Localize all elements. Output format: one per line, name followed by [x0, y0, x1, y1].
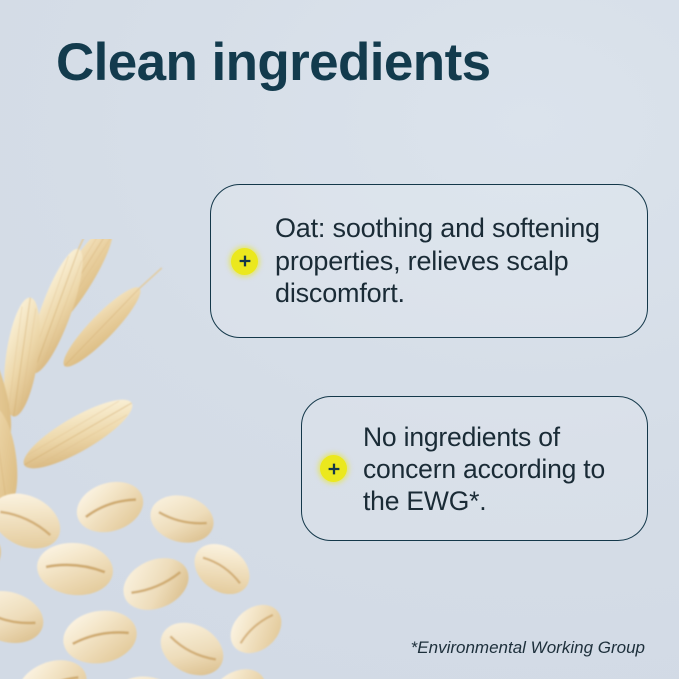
background-wash: [0, 0, 679, 679]
ingredient-card-oat: Oat: soothing and softening properties, …: [210, 184, 648, 338]
ingredient-card-ewg-text: No ingredients of concern according to t…: [363, 421, 635, 517]
footnote-disclaimer: *Environmental Working Group: [411, 637, 645, 659]
plus-icon: [231, 248, 258, 275]
ingredient-card-ewg: No ingredients of concern according to t…: [301, 396, 648, 541]
plus-icon: [320, 455, 347, 482]
product-ingredient-infographic: Clean ingredients Oat: soothing and soft…: [0, 0, 679, 679]
ingredient-card-oat-text: Oat: soothing and softening properties, …: [275, 212, 633, 310]
page-title: Clean ingredients: [56, 33, 491, 93]
